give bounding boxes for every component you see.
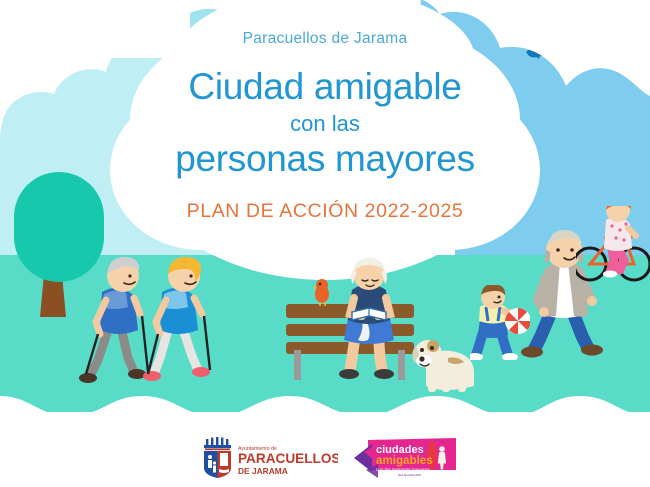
- ca-tagline: con las personas mayores: [376, 467, 430, 472]
- page-title-line2: con las: [0, 113, 650, 135]
- ca-line2: amigables: [376, 454, 433, 467]
- bubble-icon: [613, 0, 635, 22]
- bird-on-bench-icon: [312, 279, 329, 306]
- ayto-line1: PARACUELLOS: [238, 451, 338, 466]
- ca-subtag: Red Mundial OMS: [398, 473, 421, 477]
- nordic-walkers-figure: [78, 248, 228, 386]
- kicker-text: Paracuellos de Jarama: [0, 30, 650, 48]
- plan-subtitle: PLAN DE ACCIÓN 2022-2025: [0, 200, 650, 223]
- ayto-line2: DE JARAMA: [238, 466, 288, 476]
- ayuntamiento-logo: Ayuntamiento de PARACUELLOS DE JARAMA: [198, 437, 338, 479]
- page-title-line1: Ciudad amigable: [0, 68, 650, 105]
- ciudades-amigables-logo: ciudades amigables con las personas mayo…: [352, 436, 460, 480]
- poster-cover: Paracuellos de Jarama Ciudad amigable co…: [0, 0, 650, 487]
- page-title-line3: personas mayores: [0, 140, 650, 177]
